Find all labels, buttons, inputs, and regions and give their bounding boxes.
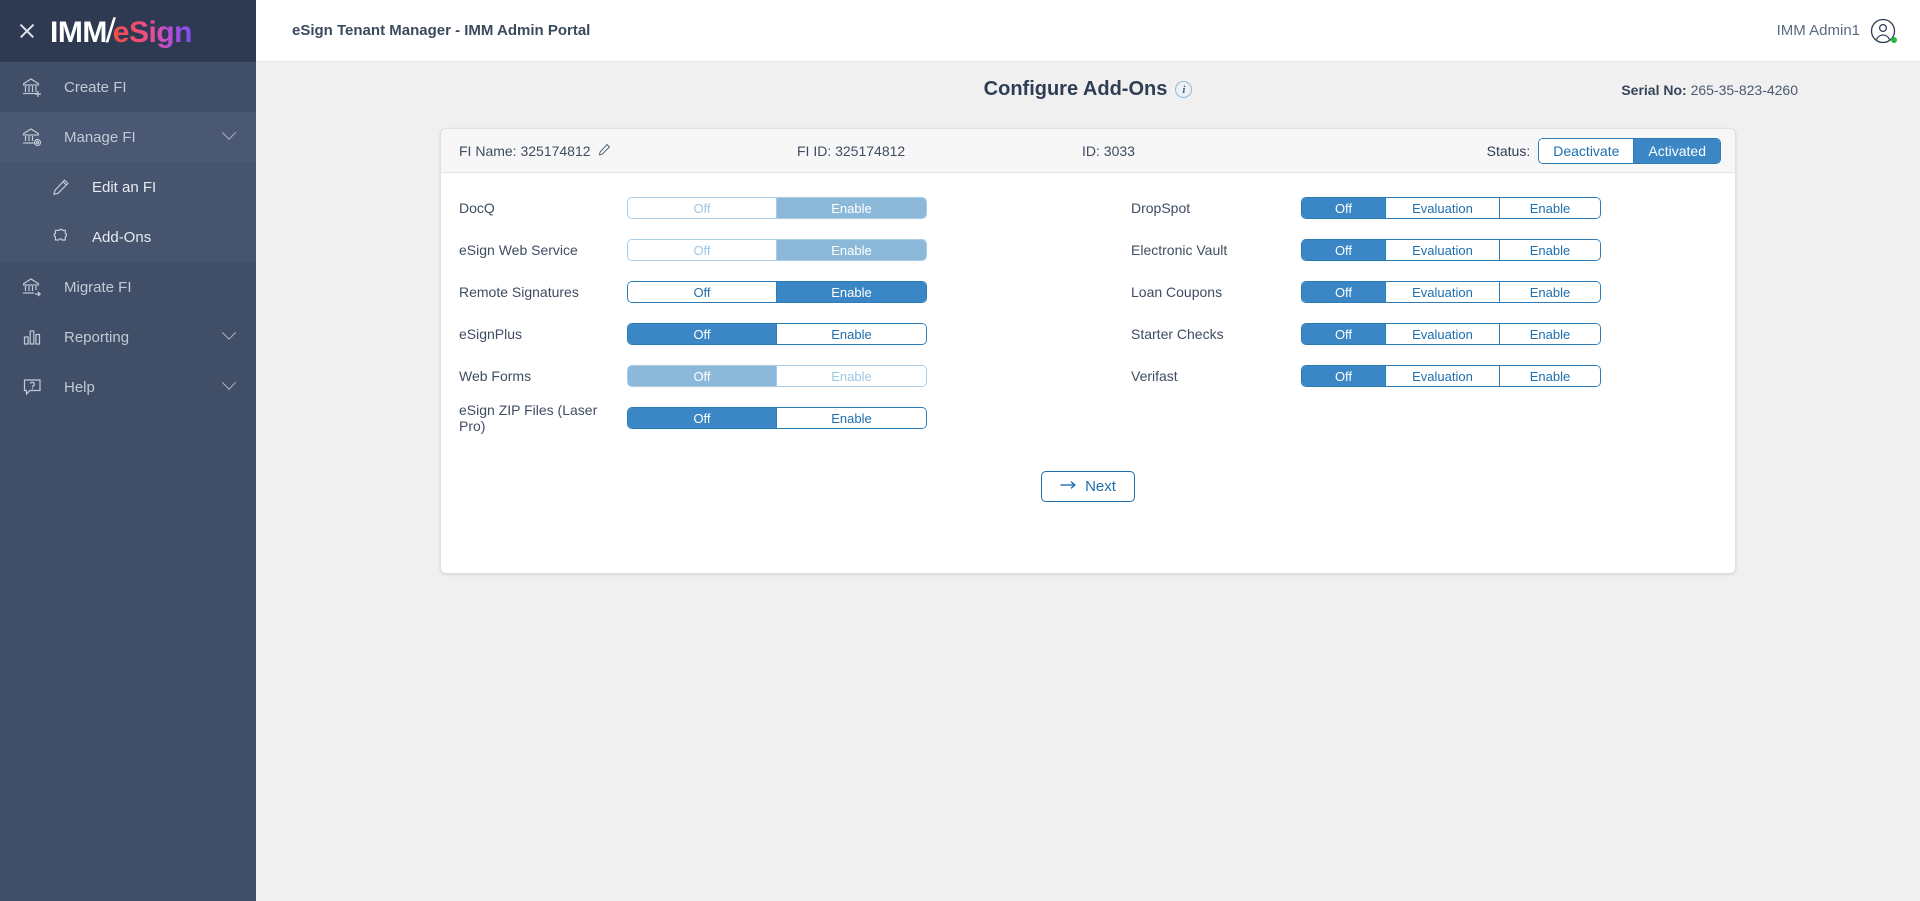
sidebar-subitem-label: Add-Ons [92, 229, 151, 246]
addon-label: eSign ZIP Files (Laser Pro) [459, 402, 627, 434]
logo-text-esign: eSign [113, 16, 192, 50]
toggle-option-off[interactable]: Off [628, 282, 777, 302]
logo-text-imm: IMM [50, 16, 107, 50]
addon-label: Verifast [1131, 368, 1301, 384]
toggle-option-off[interactable]: Off [628, 198, 777, 218]
fi-internal-id-label: ID: 3033 [1082, 143, 1135, 159]
toggle-option-off[interactable]: Off [628, 240, 777, 260]
chevron-down-icon [222, 126, 236, 140]
online-status-dot [1891, 37, 1897, 43]
user-menu[interactable]: IMM Admin1 [1777, 18, 1896, 44]
imm-esign-logo: IMM/eSign [50, 12, 192, 51]
pencil-icon[interactable] [598, 143, 611, 159]
card-footer: Next [441, 471, 1735, 502]
sidebar-item-migrate-fi[interactable]: Migrate FI [0, 262, 256, 312]
toggle-option-enable[interactable]: Enable [777, 282, 926, 302]
addon-label: Loan Coupons [1131, 284, 1301, 300]
arrow-right-icon [1060, 478, 1077, 495]
status-toggle[interactable]: Deactivate Activated [1538, 138, 1721, 164]
addon-toggle-electronic-vault[interactable]: Off Evaluation Enable [1301, 239, 1601, 261]
status-control: Status: Deactivate Activated [1487, 138, 1721, 164]
next-button[interactable]: Next [1041, 471, 1135, 502]
addon-label: Web Forms [459, 368, 627, 384]
toggle-option-off[interactable]: Off [1302, 366, 1386, 386]
toggle-option-enable[interactable]: Enable [777, 198, 926, 218]
user-name-label: IMM Admin1 [1777, 22, 1860, 39]
sidebar-item-help[interactable]: Help [0, 362, 256, 412]
toggle-option-off[interactable]: Off [628, 408, 777, 428]
toggle-option-enable[interactable]: Enable [1500, 366, 1600, 386]
addon-toggle-esignplus[interactable]: Off Enable [627, 323, 927, 345]
sidebar-item-label: Create FI [64, 79, 127, 96]
chevron-down-icon [222, 376, 236, 390]
sidebar-item-label: Migrate FI [64, 279, 132, 296]
addons-grid: DocQ Off Enable eSign Web Service Off En… [441, 173, 1735, 573]
addon-toggle-loan-coupons[interactable]: Off Evaluation Enable [1301, 281, 1601, 303]
sidebar-item-reporting[interactable]: Reporting [0, 312, 256, 362]
toggle-option-off[interactable]: Off [1302, 240, 1386, 260]
addon-label: Starter Checks [1131, 326, 1301, 342]
addon-toggle-esign-web-service[interactable]: Off Enable [627, 239, 927, 261]
addon-label: eSign Web Service [459, 242, 627, 258]
toggle-option-enable[interactable]: Enable [777, 366, 926, 386]
toggle-option-enable[interactable]: Enable [777, 408, 926, 428]
addon-label: Remote Signatures [459, 284, 627, 300]
addon-label: DocQ [459, 200, 627, 216]
addon-toggle-web-forms[interactable]: Off Enable [627, 365, 927, 387]
serial-number-label: Serial No: [1621, 82, 1686, 98]
sidebar-logo-area: IMM/eSign [0, 0, 256, 62]
toggle-option-enable[interactable]: Enable [1500, 282, 1600, 302]
addon-label: Electronic Vault [1131, 242, 1301, 258]
serial-number: Serial No: 265-35-823-4260 [1621, 82, 1798, 98]
bank-plus-icon [18, 75, 46, 99]
sidebar-item-manage-fi[interactable]: Manage FI [0, 112, 256, 162]
addon-row-starter-checks: Starter Checks Off Evaluation Enable [1131, 313, 1711, 355]
configure-addons-card: FI Name: 325174812 FI ID: 325174812 ID: … [440, 128, 1736, 574]
addon-row-docq: DocQ Off Enable [459, 187, 1039, 229]
addon-row-esign-zip-files: eSign ZIP Files (Laser Pro) Off Enable [459, 397, 1039, 439]
fi-name: FI Name: 325174812 [459, 143, 611, 159]
toggle-option-evaluation[interactable]: Evaluation [1386, 366, 1500, 386]
toggle-option-evaluation[interactable]: Evaluation [1386, 198, 1500, 218]
fi-name-label: FI Name: 325174812 [459, 143, 591, 159]
close-icon[interactable] [18, 22, 36, 40]
toggle-option-evaluation[interactable]: Evaluation [1386, 282, 1500, 302]
sidebar-submenu-manage-fi: Edit an FI Add-Ons [0, 162, 256, 262]
addon-label: eSignPlus [459, 326, 627, 342]
question-bubble-icon [18, 375, 46, 399]
addon-row-esignplus: eSignPlus Off Enable [459, 313, 1039, 355]
toggle-option-enable[interactable]: Enable [1500, 240, 1600, 260]
sidebar-item-add-ons[interactable]: Add-Ons [0, 212, 256, 262]
sidebar-item-edit-an-fi[interactable]: Edit an FI [0, 162, 256, 212]
addon-row-electronic-vault: Electronic Vault Off Evaluation Enable [1131, 229, 1711, 271]
toggle-option-evaluation[interactable]: Evaluation [1386, 240, 1500, 260]
toggle-option-off[interactable]: Off [628, 324, 777, 344]
app-title: eSign Tenant Manager - IMM Admin Portal [292, 22, 590, 39]
user-circle-icon[interactable] [1870, 18, 1896, 44]
addon-label: DropSpot [1131, 200, 1301, 216]
logo-slash: / [105, 12, 115, 51]
addon-toggle-esign-zip-files[interactable]: Off Enable [627, 407, 927, 429]
sidebar-item-label: Manage FI [64, 129, 136, 146]
addon-row-web-forms: Web Forms Off Enable [459, 355, 1039, 397]
addon-toggle-starter-checks[interactable]: Off Evaluation Enable [1301, 323, 1601, 345]
bank-gear-icon [18, 125, 46, 149]
bank-arrow-icon [18, 275, 46, 299]
sidebar-item-create-fi[interactable]: Create FI [0, 62, 256, 112]
fi-id-label: FI ID: 325174812 [797, 143, 905, 159]
next-button-label: Next [1085, 478, 1116, 495]
top-bar: eSign Tenant Manager - IMM Admin Portal … [256, 0, 1920, 62]
pencil-icon [48, 178, 74, 196]
sidebar-item-label: Reporting [64, 329, 129, 346]
toggle-option-off[interactable]: Off [628, 366, 777, 386]
status-label: Status: [1487, 143, 1531, 159]
toggle-option-enable[interactable]: Enable [777, 324, 926, 344]
fi-info-bar: FI Name: 325174812 FI ID: 325174812 ID: … [441, 129, 1735, 173]
addon-toggle-dropspot[interactable]: Off Evaluation Enable [1301, 197, 1601, 219]
puzzle-piece-icon [48, 228, 74, 247]
toggle-option-evaluation[interactable]: Evaluation [1386, 324, 1500, 344]
toggle-option-enable[interactable]: Enable [1500, 324, 1600, 344]
toggle-option-off[interactable]: Off [1302, 282, 1386, 302]
toggle-option-off[interactable]: Off [1302, 324, 1386, 344]
addon-row-loan-coupons: Loan Coupons Off Evaluation Enable [1131, 271, 1711, 313]
addon-row-remote-signatures: Remote Signatures Off Enable [459, 271, 1039, 313]
sidebar-subitem-label: Edit an FI [92, 179, 156, 196]
addon-row-esign-web-service: eSign Web Service Off Enable [459, 229, 1039, 271]
addons-column-right: DropSpot Off Evaluation Enable Electroni… [1131, 187, 1711, 397]
page-title-text: Configure Add-Ons [984, 78, 1168, 101]
addon-toggle-remote-signatures[interactable]: Off Enable [627, 281, 927, 303]
addons-column-left: DocQ Off Enable eSign Web Service Off En… [459, 187, 1039, 439]
toggle-option-off[interactable]: Off [1302, 198, 1386, 218]
addon-toggle-verifast[interactable]: Off Evaluation Enable [1301, 365, 1601, 387]
chevron-down-icon [222, 326, 236, 340]
toggle-option-enable[interactable]: Enable [777, 240, 926, 260]
addon-row-dropspot: DropSpot Off Evaluation Enable [1131, 187, 1711, 229]
sidebar: IMM/eSign Create FI Manage FI [0, 0, 256, 901]
info-icon[interactable]: i [1175, 81, 1192, 98]
toggle-option-enable[interactable]: Enable [1500, 198, 1600, 218]
page-content: Configure Add-Ons i Serial No: 265-35-82… [256, 62, 1920, 901]
status-option-deactivate[interactable]: Deactivate [1539, 139, 1634, 163]
sidebar-item-label: Help [64, 379, 95, 396]
page-header: Configure Add-Ons i Serial No: 265-35-82… [256, 62, 1920, 120]
serial-number-value: 265-35-823-4260 [1691, 82, 1798, 98]
status-option-activated[interactable]: Activated [1634, 139, 1720, 163]
addon-toggle-docq[interactable]: Off Enable [627, 197, 927, 219]
bar-chart-icon [18, 325, 46, 349]
addon-row-verifast: Verifast Off Evaluation Enable [1131, 355, 1711, 397]
